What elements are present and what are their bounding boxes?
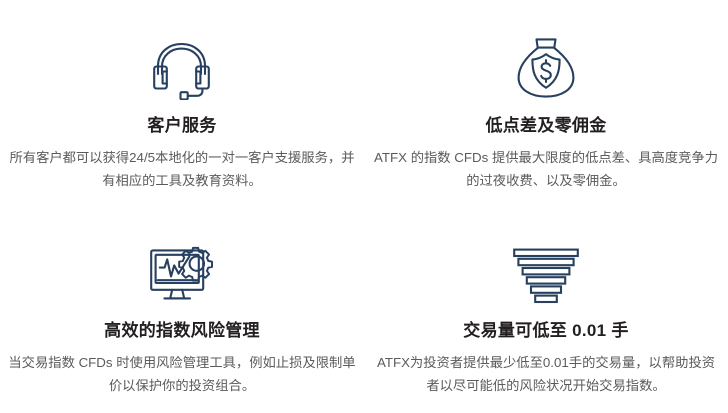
feature-description: 所有客户都可以获得24/5本地化的一对一客户支援服务，并有相应的工具及教育资料。 (8, 147, 356, 192)
feature-description: ATFX 的指数 CFDs 提供最大限度的低点差、具高度竞争力的过夜收费、以及零… (372, 147, 720, 192)
feature-card-lot-size: 交易量可低至 0.01 手 ATFX为投资者提供最少低至0.01手的交易量，以帮… (364, 207, 728, 413)
feature-description: 当交易指数 CFDs 时使用风险管理工具，例如止损及限制单价以保护你的投资组合。 (8, 352, 356, 397)
feature-title: 低点差及零佣金 (485, 116, 606, 136)
feature-title: 客户服务 (147, 116, 216, 136)
feature-title: 交易量可低至 0.01 手 (463, 321, 628, 341)
features-grid: 客户服务 所有客户都可以获得24/5本地化的一对一客户支援服务，并有相应的工具及… (0, 0, 728, 413)
headset-icon (150, 14, 214, 100)
feature-description: ATFX为投资者提供最少低至0.01手的交易量，以帮助投资者以尽可能低的风险状况… (372, 352, 720, 397)
feature-card-low-spread: 低点差及零佣金 ATFX 的指数 CFDs 提供最大限度的低点差、具高度竞争力的… (364, 0, 728, 207)
feature-card-customer-service: 客户服务 所有客户都可以获得24/5本地化的一对一客户支援服务，并有相应的工具及… (0, 0, 364, 207)
funnel-bars-icon (511, 223, 581, 305)
money-bag-shield-dollar-icon (514, 14, 578, 100)
feature-card-risk-management: 高效的指数风险管理 当交易指数 CFDs 时使用风险管理工具，例如止损及限制单价… (0, 207, 364, 413)
feature-title: 高效的指数风险管理 (104, 321, 260, 341)
monitor-chart-gear-icon (148, 223, 216, 305)
